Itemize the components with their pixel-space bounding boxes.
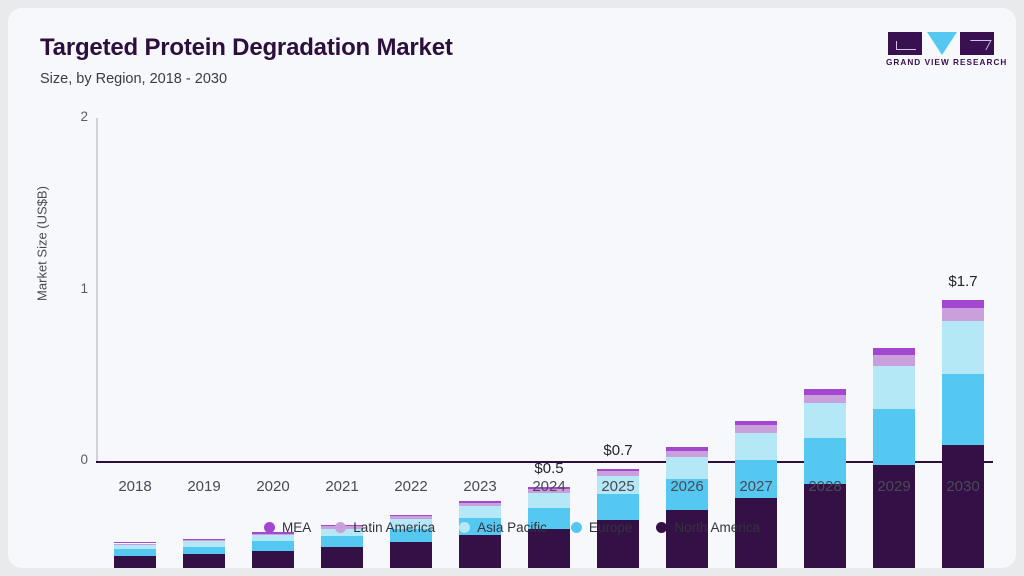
bar-segment-europe[interactable] — [114, 549, 156, 556]
legend-swatch-icon — [335, 522, 346, 533]
bar-segment-mea[interactable] — [735, 421, 777, 425]
bar-segment-mea[interactable] — [459, 501, 501, 503]
legend-item-latin-america[interactable]: Latin America — [335, 520, 435, 535]
bar-segment-mea[interactable] — [183, 539, 225, 540]
legend-item-asia-pacific[interactable]: Asia Pacific — [459, 520, 547, 535]
legend-item-north-america[interactable]: North America — [656, 520, 760, 535]
bar-segment-mea[interactable] — [873, 348, 915, 355]
bar-group-2023[interactable] — [459, 115, 501, 568]
bar-group-2018[interactable] — [114, 115, 156, 568]
x-axis-tick-label: 2028 — [792, 478, 858, 495]
y-axis-tick-label: 0 — [58, 452, 88, 467]
legend-label: North America — [674, 520, 760, 535]
legend-label: Latin America — [353, 520, 435, 535]
x-axis-tick-label: 2021 — [309, 478, 375, 495]
bar-segment-mea[interactable] — [114, 542, 156, 543]
legend-swatch-icon — [571, 522, 582, 533]
bar-segment-asia-pacific[interactable] — [873, 366, 915, 409]
x-axis-tick-label: 2026 — [654, 478, 720, 495]
legend-label: Asia Pacific — [477, 520, 547, 535]
bar-segment-europe[interactable] — [597, 494, 639, 520]
bar-segment-north-america[interactable] — [666, 510, 708, 568]
x-axis-tick-label: 2023 — [447, 478, 513, 495]
bar-group-2028[interactable] — [804, 115, 846, 568]
bar-segment-asia-pacific[interactable] — [804, 403, 846, 437]
bar-segment-mea[interactable] — [666, 447, 708, 451]
bar-group-2025[interactable]: $0.7 — [597, 115, 639, 568]
bar-segment-asia-pacific[interactable] — [942, 321, 984, 374]
bar-segment-asia-pacific[interactable] — [114, 545, 156, 549]
legend-item-mea[interactable]: MEA — [264, 520, 311, 535]
bar-segment-north-america[interactable] — [183, 554, 225, 568]
bar-value-label: $1.7 — [930, 273, 996, 290]
x-axis-tick-label: 2024 — [516, 478, 582, 495]
bar-segment-latin-america[interactable] — [390, 516, 432, 519]
y-axis-tick-label: 2 — [58, 109, 88, 124]
y-axis-tick-label: 1 — [58, 281, 88, 296]
bar-segment-latin-america[interactable] — [459, 503, 501, 506]
bar-value-label: $0.5 — [516, 460, 582, 477]
y-axis-ticks: 012 — [58, 8, 88, 568]
x-axis-tick-label: 2020 — [240, 478, 306, 495]
bar-segment-europe[interactable] — [942, 374, 984, 444]
bar-segment-asia-pacific[interactable] — [459, 506, 501, 518]
bar-segment-asia-pacific[interactable] — [183, 541, 225, 546]
bar-segment-latin-america[interactable] — [942, 308, 984, 321]
bar-group-2026[interactable] — [666, 115, 708, 568]
legend-swatch-icon — [459, 522, 470, 533]
bar-segment-latin-america[interactable] — [183, 540, 225, 542]
bar-group-2030[interactable]: $1.7 — [942, 115, 984, 568]
bar-segment-asia-pacific[interactable] — [528, 493, 570, 508]
x-axis-tick-label: 2030 — [930, 478, 996, 495]
chart-legend: MEALatin AmericaAsia PacificEuropeNorth … — [8, 520, 1016, 535]
bar-segment-europe[interactable] — [321, 536, 363, 547]
bar-segment-europe[interactable] — [252, 541, 294, 550]
bar-group-2027[interactable] — [735, 115, 777, 568]
bar-segment-latin-america[interactable] — [597, 471, 639, 476]
bar-segment-mea[interactable] — [390, 515, 432, 517]
bar-segment-north-america[interactable] — [114, 556, 156, 568]
bar-segment-north-america[interactable] — [252, 551, 294, 568]
bar-group-2021[interactable] — [321, 115, 363, 568]
bar-segment-north-america[interactable] — [459, 535, 501, 568]
bar-segment-asia-pacific[interactable] — [252, 535, 294, 541]
bar-segment-mea[interactable] — [804, 389, 846, 394]
y-axis-label: Market Size (US$B) — [35, 164, 50, 324]
bar-segment-asia-pacific[interactable] — [666, 457, 708, 479]
bar-group-2019[interactable] — [183, 115, 225, 568]
legend-swatch-icon — [264, 522, 275, 533]
x-axis-tick-label: 2027 — [723, 478, 789, 495]
bar-segment-asia-pacific[interactable] — [735, 433, 777, 460]
legend-swatch-icon — [656, 522, 667, 533]
bar-segment-latin-america[interactable] — [666, 451, 708, 457]
bar-segment-north-america[interactable] — [321, 547, 363, 568]
chart-card: Targeted Protein Degradation Market Size… — [8, 8, 1016, 568]
bar-segment-latin-america[interactable] — [114, 544, 156, 545]
legend-item-europe[interactable]: Europe — [571, 520, 633, 535]
y-axis-line — [96, 118, 98, 461]
legend-label: Europe — [589, 520, 633, 535]
x-axis-tick-label: 2019 — [171, 478, 237, 495]
chart-plot-area: Market Size (US$B) 012 $0.5$0.7$1.7 2018… — [8, 8, 1016, 568]
bar-value-label: $0.7 — [585, 442, 651, 459]
x-axis-tick-label: 2029 — [861, 478, 927, 495]
bar-group-2022[interactable] — [390, 115, 432, 568]
x-axis-tick-label: 2025 — [585, 478, 651, 495]
bar-segment-mea[interactable] — [942, 300, 984, 309]
bar-segment-north-america[interactable] — [942, 445, 984, 568]
bar-segment-europe[interactable] — [183, 547, 225, 555]
bar-segment-latin-america[interactable] — [873, 355, 915, 365]
legend-label: MEA — [282, 520, 311, 535]
bar-group-2024[interactable]: $0.5 — [528, 115, 570, 568]
bar-segment-europe[interactable] — [873, 409, 915, 466]
bar-segment-mea[interactable] — [597, 469, 639, 472]
bar-group-2029[interactable] — [873, 115, 915, 568]
bar-segment-north-america[interactable] — [390, 542, 432, 568]
bar-segment-latin-america[interactable] — [804, 395, 846, 404]
bar-group-2020[interactable] — [252, 115, 294, 568]
bar-segment-latin-america[interactable] — [735, 425, 777, 432]
x-axis-tick-label: 2018 — [102, 478, 168, 495]
x-axis-tick-label: 2022 — [378, 478, 444, 495]
